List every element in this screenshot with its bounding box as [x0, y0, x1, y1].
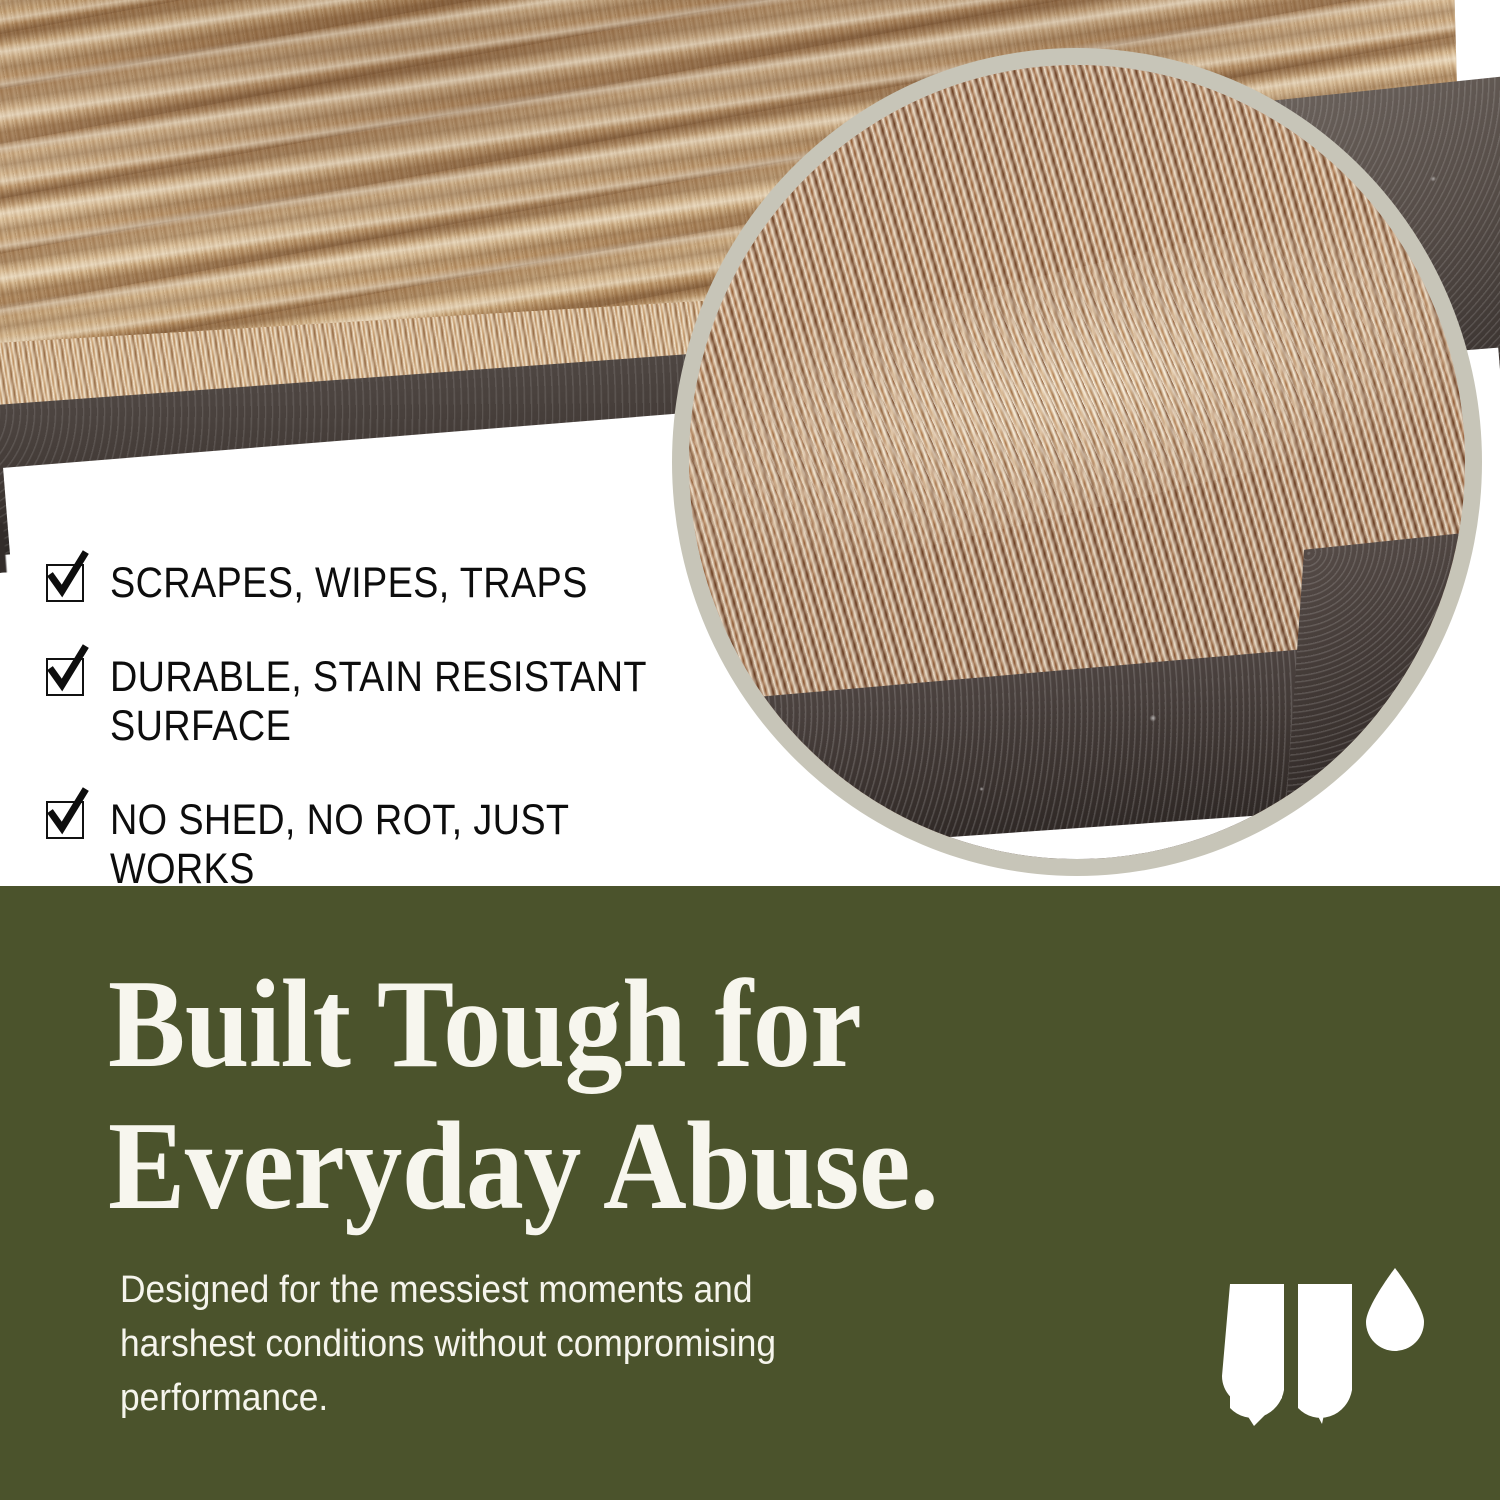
checklist-item-label: NO SHED, NO ROT, JUST WORKS — [110, 793, 721, 886]
product-photo: SCRAPES, WIPES, TRAPS DURABLE, STAIN RES… — [0, 0, 1500, 886]
checklist-item: SCRAPES, WIPES, TRAPS — [44, 556, 804, 608]
checklist-item-label: DURABLE, STAIN RESISTANT SURFACE — [110, 650, 647, 751]
promo-headline: Built Tough for Everyday Abuse. — [108, 954, 1083, 1239]
checklist-item: NO SHED, NO ROT, JUST WORKS — [44, 793, 804, 886]
product-feature-banner: SCRAPES, WIPES, TRAPS DURABLE, STAIN RES… — [0, 0, 1500, 1500]
inset-rubber-base-right — [1285, 529, 1482, 824]
checklist-item: DURABLE, STAIN RESISTANT SURFACE — [44, 650, 804, 751]
checkmark-glyph — [44, 553, 88, 601]
checklist-item-label: SCRAPES, WIPES, TRAPS — [110, 556, 588, 608]
checkbox-checked-icon — [44, 652, 88, 696]
w-wordmark-droplet-logo — [1220, 1258, 1436, 1434]
brand-logo — [1220, 1258, 1436, 1434]
promo-subcopy: Designed for the messiest moments and ha… — [120, 1264, 920, 1426]
checkmark-glyph — [44, 790, 88, 838]
feature-checklist: SCRAPES, WIPES, TRAPS DURABLE, STAIN RES… — [44, 556, 804, 886]
promo-panel: Built Tough for Everyday Abuse. Designed… — [0, 886, 1500, 1500]
checkbox-checked-icon — [44, 558, 88, 602]
checkmark-glyph — [44, 647, 88, 695]
checkbox-checked-icon — [44, 795, 88, 839]
